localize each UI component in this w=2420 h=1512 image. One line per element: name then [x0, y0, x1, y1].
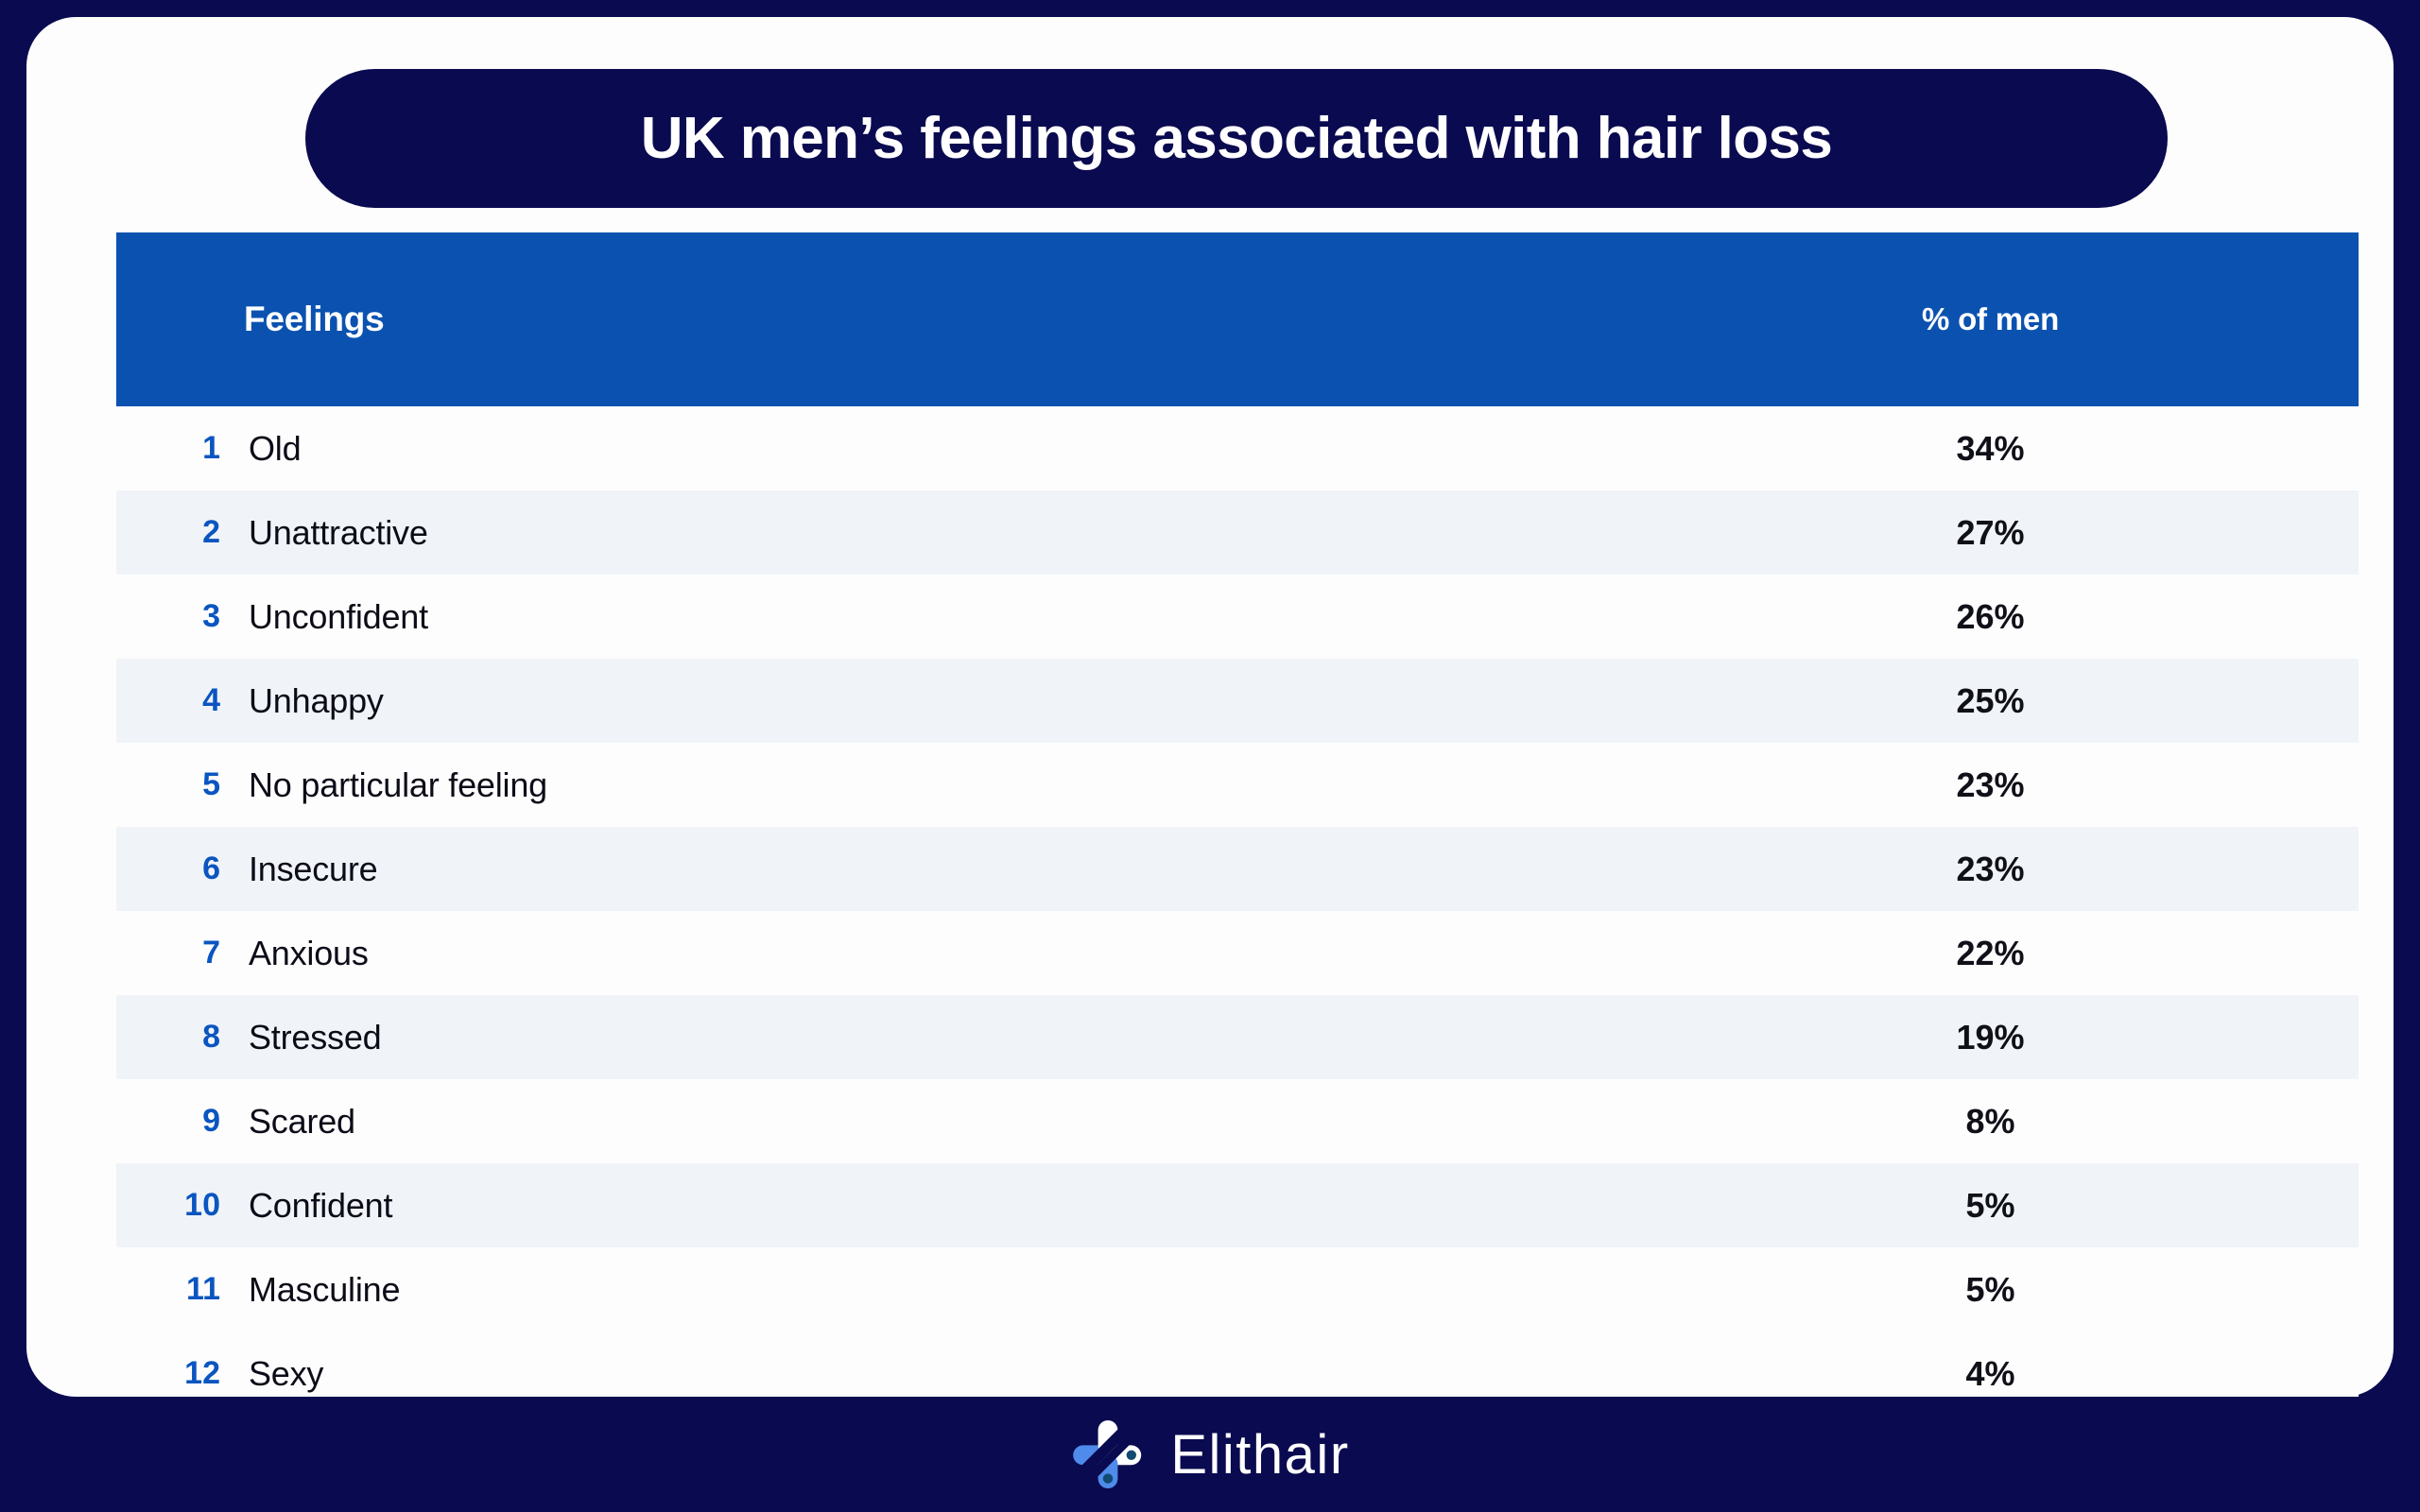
elithair-pinwheel-logo-icon [1070, 1417, 1146, 1492]
row-feeling: Scared [249, 1102, 355, 1142]
table-row: 6 Insecure 23% [116, 827, 2359, 911]
row-feeling: Unconfident [249, 597, 428, 637]
row-rank: 5 [116, 766, 220, 803]
row-rank: 10 [116, 1187, 220, 1224]
row-rank: 9 [116, 1103, 220, 1140]
row-feeling: Sexy [249, 1354, 323, 1394]
column-header-percent: % of men [1813, 301, 2168, 337]
table-row: 10 Confident 5% [116, 1163, 2359, 1247]
row-rank: 12 [116, 1355, 220, 1392]
table-header-row: Feelings % of men [116, 232, 2359, 406]
brand-name: Elithair [1170, 1423, 1349, 1486]
page-title: UK men’s feelings associated with hair l… [641, 105, 1833, 172]
row-feeling: Unattractive [249, 513, 428, 553]
table-row: 2 Unattractive 27% [116, 490, 2359, 575]
row-rank: 2 [116, 514, 220, 551]
row-feeling: Insecure [249, 850, 377, 889]
row-percent: 8% [1813, 1102, 2168, 1142]
row-percent: 4% [1813, 1354, 2168, 1394]
table-row: 1 Old 34% [116, 406, 2359, 490]
row-rank: 1 [116, 430, 220, 467]
feelings-table: Feelings % of men 1 Old 34% 2 Unattracti… [116, 232, 2359, 1416]
table-row: 5 No particular feeling 23% [116, 743, 2359, 827]
table-row: 7 Anxious 22% [116, 911, 2359, 995]
table-row: 3 Unconfident 26% [116, 575, 2359, 659]
row-rank: 3 [116, 598, 220, 635]
row-feeling: Anxious [249, 934, 369, 973]
row-percent: 26% [1813, 597, 2168, 637]
row-percent: 19% [1813, 1018, 2168, 1057]
row-feeling: No particular feeling [249, 765, 547, 805]
row-rank: 6 [116, 850, 220, 887]
row-rank: 7 [116, 935, 220, 971]
row-rank: 4 [116, 682, 220, 719]
table-row: 9 Scared 8% [116, 1079, 2359, 1163]
infographic-root: UK men’s feelings associated with hair l… [0, 0, 2420, 1512]
row-percent: 22% [1813, 934, 2168, 973]
row-percent: 25% [1813, 681, 2168, 721]
row-feeling: Masculine [249, 1270, 400, 1310]
table-body: 1 Old 34% 2 Unattractive 27% 3 Unconfide… [116, 406, 2359, 1416]
row-percent: 23% [1813, 850, 2168, 889]
row-percent: 27% [1813, 513, 2168, 553]
column-header-feelings: Feelings [244, 300, 385, 339]
row-feeling: Unhappy [249, 681, 384, 721]
row-rank: 8 [116, 1019, 220, 1056]
row-rank: 11 [116, 1271, 220, 1308]
row-percent: 23% [1813, 765, 2168, 805]
table-row: 4 Unhappy 25% [116, 659, 2359, 743]
content-card: UK men’s feelings associated with hair l… [26, 17, 2394, 1397]
row-feeling: Old [249, 429, 301, 469]
title-banner: UK men’s feelings associated with hair l… [305, 69, 2168, 208]
row-percent: 5% [1813, 1270, 2168, 1310]
row-feeling: Confident [249, 1186, 392, 1226]
row-percent: 5% [1813, 1186, 2168, 1226]
row-percent: 34% [1813, 429, 2168, 469]
row-feeling: Stressed [249, 1018, 381, 1057]
footer-bar: Elithair [0, 1397, 2420, 1512]
table-row: 8 Stressed 19% [116, 995, 2359, 1079]
table-row: 11 Masculine 5% [116, 1247, 2359, 1332]
